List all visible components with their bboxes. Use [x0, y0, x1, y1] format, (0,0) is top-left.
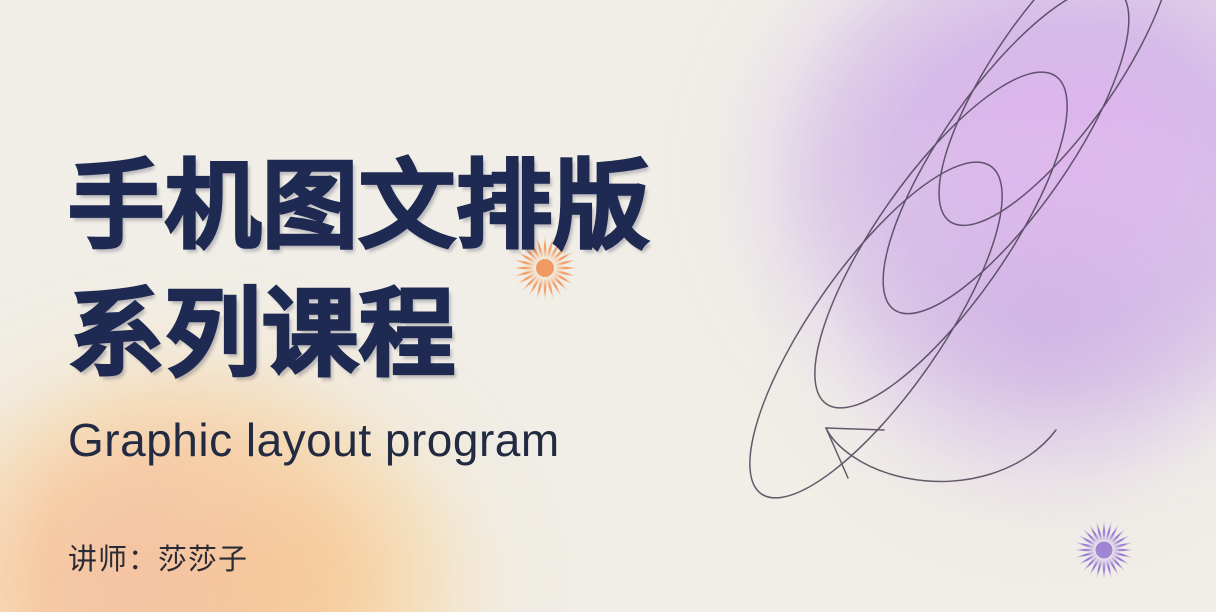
poster-title-line-2: 系列课程	[68, 286, 456, 382]
instructor-label: 讲师：莎莎子	[68, 536, 248, 578]
poster-title-line-1: 手机图文排版	[68, 158, 650, 254]
text-content-block: 手机图文排版 系列课程 Graphic layout program 讲师：莎莎…	[68, 0, 768, 612]
purple-gradient-blob-soft	[756, 120, 1216, 600]
course-poster: 手机图文排版 系列课程 Graphic layout program 讲师：莎莎…	[0, 0, 1216, 612]
poster-subtitle: Graphic layout program	[68, 413, 560, 467]
